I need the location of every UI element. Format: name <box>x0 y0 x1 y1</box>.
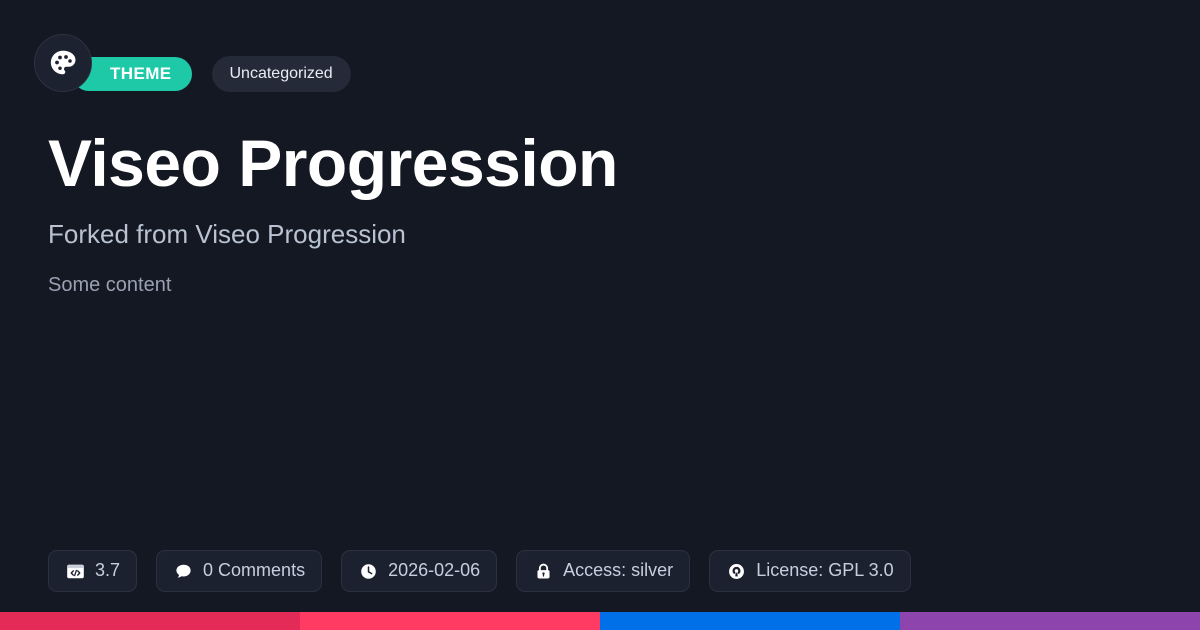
page-title: Viseo Progression <box>48 129 1152 199</box>
meta-chip-label: 2026-02-06 <box>388 560 480 582</box>
meta-chip-date: 2026-02-06 <box>341 550 497 592</box>
open-source-icon <box>726 561 746 581</box>
page-subtitle: Forked from Viseo Progression <box>48 219 1152 250</box>
palette-icon <box>34 34 92 92</box>
code-window-icon <box>65 561 85 581</box>
stripe-segment-2 <box>300 612 600 630</box>
stripe-segment-4 <box>900 612 1200 630</box>
meta-chip-label: 0 Comments <box>203 560 305 582</box>
category-pill[interactable]: Uncategorized <box>212 56 351 92</box>
meta-chip-label: 3.7 <box>95 560 120 582</box>
stripe-segment-1 <box>0 612 300 630</box>
bottom-color-stripe <box>0 612 1200 630</box>
page-excerpt: Some content <box>48 274 1152 297</box>
meta-chip-version: 3.7 <box>48 550 137 592</box>
og-card: THEME Uncategorized Viseo Progression Fo… <box>0 0 1200 630</box>
stripe-segment-3 <box>600 612 900 630</box>
badge-row: THEME Uncategorized <box>48 34 1152 96</box>
lock-icon <box>533 561 553 581</box>
spacer <box>48 297 1152 550</box>
meta-chip-comments: 0 Comments <box>156 550 322 592</box>
meta-row: 3.7 0 Comments 2026-02-06 <box>48 550 1152 592</box>
pill-group: THEME Uncategorized <box>48 56 351 92</box>
clock-icon <box>358 561 378 581</box>
meta-chip-license: License: GPL 3.0 <box>709 550 910 592</box>
meta-chip-access: Access: silver <box>516 550 690 592</box>
meta-chip-label: Access: silver <box>563 560 673 582</box>
meta-chip-label: License: GPL 3.0 <box>756 560 893 582</box>
comment-bubble-icon <box>173 561 193 581</box>
